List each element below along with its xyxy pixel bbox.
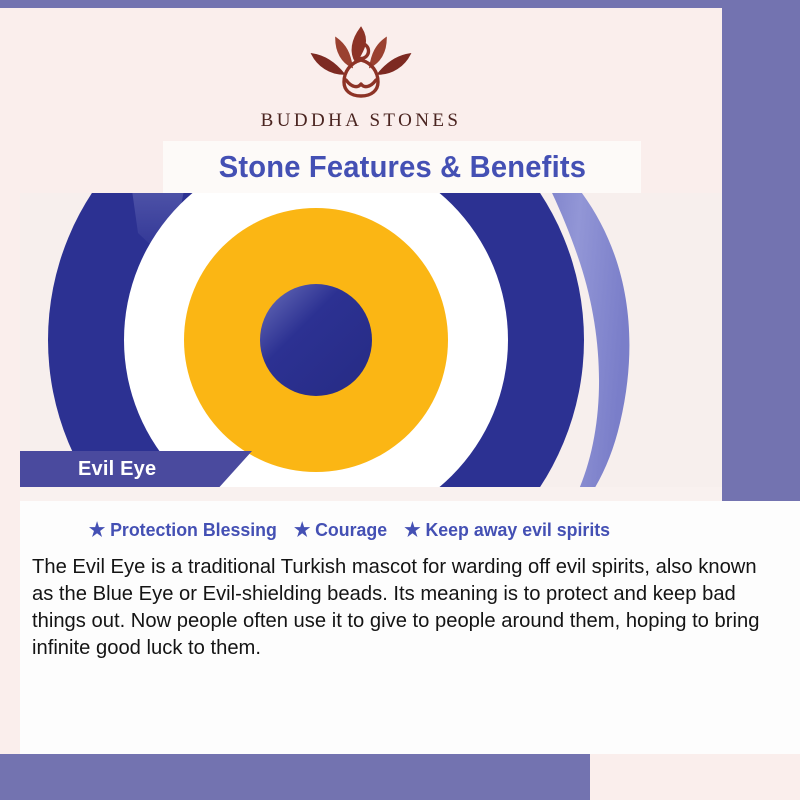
description-text: The Evil Eye is a traditional Turkish ma…	[32, 553, 773, 661]
benefit-item: ★ Courage	[294, 519, 387, 541]
content-card: ★ Protection Blessing ★ Courage ★ Keep a…	[20, 501, 800, 760]
star-icon: ★	[89, 521, 105, 540]
title-banner: Stone Features & Benefits	[163, 141, 641, 193]
lotus-meditation-icon	[292, 18, 430, 106]
brand-logo: BUDDHA STONES	[0, 18, 722, 132]
benefit-item: ★ Keep away evil spirits	[405, 519, 611, 541]
brand-name: BUDDHA STONES	[0, 110, 722, 132]
star-icon: ★	[294, 521, 310, 540]
hero-under-strip	[20, 487, 722, 501]
hero-image	[20, 193, 722, 487]
star-icon: ★	[405, 521, 421, 540]
benefit-label: Courage	[315, 519, 387, 541]
benefits-list: ★ Protection Blessing ★ Courage ★ Keep a…	[20, 519, 680, 541]
page-title: Stone Features & Benefits	[218, 149, 585, 185]
benefit-label: Keep away evil spirits	[426, 519, 611, 541]
hero-ribbon-label: Evil Eye	[20, 458, 156, 481]
cream-bottom-right	[590, 754, 800, 800]
evil-eye-bead-graphic	[20, 193, 722, 487]
benefit-label: Protection Blessing	[110, 519, 277, 541]
hero-ribbon: Evil Eye	[20, 451, 252, 487]
infographic-poster: BUDDHA STONES Stone Features & Benefits	[0, 0, 800, 800]
benefit-item: ★ Protection Blessing	[89, 519, 277, 541]
frame-top-edge	[0, 0, 800, 8]
